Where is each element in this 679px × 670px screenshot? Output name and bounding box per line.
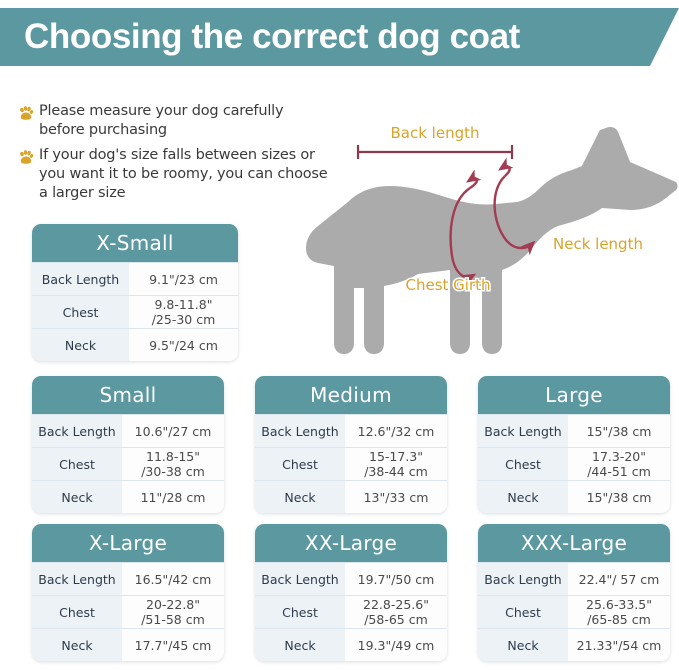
- row-value-line: /58-65 cm: [364, 612, 428, 627]
- page-title: Choosing the correct dog coat: [24, 8, 520, 66]
- row-value: 13"/33 cm: [345, 481, 447, 513]
- table-row: Neck21.33"/54 cm: [478, 628, 670, 661]
- note-text: If your dog's size falls between sizes o…: [39, 146, 330, 203]
- paw-print-icon: [18, 105, 34, 121]
- row-value-line: 22.8-25.6": [363, 597, 429, 612]
- row-value: 10.6"/27 cm: [122, 415, 224, 447]
- row-label: Back Length: [478, 563, 568, 595]
- size-table-medium: MediumBack Length12.6"/32 cmChest15-17.3…: [255, 376, 447, 513]
- row-value-line: /38-44 cm: [364, 464, 428, 479]
- row-value: 9.1"/23 cm: [129, 263, 238, 295]
- row-value-line: 12.6"/32 cm: [358, 424, 435, 439]
- row-value: 22.8-25.6"/58-65 cm: [345, 596, 447, 628]
- row-value-line: 19.7"/50 cm: [358, 572, 435, 587]
- table-row: Chest15-17.3"/38-44 cm: [255, 447, 447, 480]
- table-row: Neck9.5"/24 cm: [32, 328, 238, 361]
- size-table-xx-large: XX-LargeBack Length19.7"/50 cmChest22.8-…: [255, 524, 447, 661]
- row-value: 15"/38 cm: [568, 415, 670, 447]
- back-length-measure: [358, 145, 512, 159]
- row-label: Chest: [32, 596, 122, 628]
- row-label: Chest: [255, 448, 345, 480]
- size-table-x-small: X-SmallBack Length9.1"/23 cmChest9.8-11.…: [32, 224, 238, 361]
- row-label: Chest: [255, 596, 345, 628]
- note-text: Please measure your dog carefully before…: [39, 102, 330, 140]
- paw-print-icon: [18, 149, 34, 165]
- row-value: 19.7"/50 cm: [345, 563, 447, 595]
- table-row: Neck13"/33 cm: [255, 480, 447, 513]
- row-value-line: 9.8-11.8": [155, 297, 213, 312]
- row-value-line: 13"/33 cm: [364, 490, 429, 505]
- table-row: Chest9.8-11.8"/25-30 cm: [32, 295, 238, 328]
- table-row: Chest17.3-20"/44-51 cm: [478, 447, 670, 480]
- size-table-x-large: X-LargeBack Length16.5"/42 cmChest20-22.…: [32, 524, 224, 661]
- row-label: Neck: [255, 629, 345, 661]
- row-value-line: 15-17.3": [369, 449, 423, 464]
- row-value-line: 9.1"/23 cm: [149, 272, 218, 287]
- chest-girth-label: Chest Girth: [405, 276, 490, 294]
- row-label: Back Length: [32, 563, 122, 595]
- size-table-large: LargeBack Length15"/38 cmChest17.3-20"/4…: [478, 376, 670, 513]
- table-row: Chest11.8-15"/30-38 cm: [32, 447, 224, 480]
- row-value-line: 11.8-15": [146, 449, 200, 464]
- table-row: Back Length9.1"/23 cm: [32, 262, 238, 295]
- row-value: 15-17.3"/38-44 cm: [345, 448, 447, 480]
- row-value-line: 15"/38 cm: [587, 490, 652, 505]
- row-value-line: 15"/38 cm: [587, 424, 652, 439]
- row-label: Chest: [478, 596, 568, 628]
- row-value-line: /30-38 cm: [141, 464, 205, 479]
- row-value: 15"/38 cm: [568, 481, 670, 513]
- table-row: Chest25.6-33.5"/65-85 cm: [478, 595, 670, 628]
- row-value: 17.3-20"/44-51 cm: [568, 448, 670, 480]
- row-value: 12.6"/32 cm: [345, 415, 447, 447]
- row-value: 11"/28 cm: [122, 481, 224, 513]
- size-table-header: XXX-Large: [478, 524, 670, 562]
- row-value: 17.7"/45 cm: [122, 629, 224, 661]
- row-value: 19.3"/49 cm: [345, 629, 447, 661]
- row-label: Chest: [32, 296, 129, 328]
- size-table-header: Medium: [255, 376, 447, 414]
- row-value-line: 9.5"/24 cm: [149, 338, 218, 353]
- back-length-label: Back length: [391, 124, 480, 142]
- measurement-notes: Please measure your dog carefully before…: [18, 102, 330, 209]
- size-table-header: X-Large: [32, 524, 224, 562]
- table-row: Neck19.3"/49 cm: [255, 628, 447, 661]
- table-row: Back Length15"/38 cm: [478, 414, 670, 447]
- row-value: 20-22.8"/51-58 cm: [122, 596, 224, 628]
- row-value: 22.4"/ 57 cm: [568, 563, 670, 595]
- row-value-line: 10.6"/27 cm: [135, 424, 212, 439]
- row-value-line: 11"/28 cm: [141, 490, 206, 505]
- row-label: Neck: [32, 481, 122, 513]
- dog-measurement-diagram: Back length Chest Girth Neck length: [300, 118, 679, 363]
- row-value-line: /51-58 cm: [141, 612, 205, 627]
- size-table-small: SmallBack Length10.6"/27 cmChest11.8-15"…: [32, 376, 224, 513]
- row-value-line: 19.3"/49 cm: [358, 638, 435, 653]
- row-label: Back Length: [255, 415, 345, 447]
- row-label: Neck: [255, 481, 345, 513]
- note-item: If your dog's size falls between sizes o…: [18, 146, 330, 203]
- size-table-header: Large: [478, 376, 670, 414]
- row-value-line: 21.33"/54 cm: [577, 638, 662, 653]
- row-value: 16.5"/42 cm: [122, 563, 224, 595]
- table-row: Back Length12.6"/32 cm: [255, 414, 447, 447]
- row-value-line: 25.6-33.5": [586, 597, 652, 612]
- row-label: Back Length: [32, 415, 122, 447]
- row-label: Neck: [32, 629, 122, 661]
- table-row: Chest20-22.8"/51-58 cm: [32, 595, 224, 628]
- row-label: Neck: [32, 329, 129, 361]
- row-value-line: 16.5"/42 cm: [135, 572, 212, 587]
- row-value: 21.33"/54 cm: [568, 629, 670, 661]
- size-table-xxx-large: XXX-LargeBack Length22.4"/ 57 cmChest25.…: [478, 524, 670, 661]
- row-label: Back Length: [478, 415, 568, 447]
- row-value: 9.8-11.8"/25-30 cm: [129, 296, 238, 328]
- table-row: Chest22.8-25.6"/58-65 cm: [255, 595, 447, 628]
- size-table-header: XX-Large: [255, 524, 447, 562]
- note-item: Please measure your dog carefully before…: [18, 102, 330, 140]
- table-row: Neck15"/38 cm: [478, 480, 670, 513]
- row-label: Chest: [478, 448, 568, 480]
- row-value-line: 22.4"/ 57 cm: [579, 572, 660, 587]
- row-value: 25.6-33.5"/65-85 cm: [568, 596, 670, 628]
- table-row: Neck11"/28 cm: [32, 480, 224, 513]
- size-table-header: X-Small: [32, 224, 238, 262]
- table-row: Back Length16.5"/42 cm: [32, 562, 224, 595]
- row-value: 9.5"/24 cm: [129, 329, 238, 361]
- row-value: 11.8-15"/30-38 cm: [122, 448, 224, 480]
- row-value-line: /65-85 cm: [587, 612, 651, 627]
- row-label: Neck: [478, 629, 568, 661]
- header-banner: Choosing the correct dog coat: [0, 8, 679, 66]
- row-label: Back Length: [255, 563, 345, 595]
- row-label: Back Length: [32, 263, 129, 295]
- neck-length-label: Neck length: [553, 235, 643, 253]
- table-row: Neck17.7"/45 cm: [32, 628, 224, 661]
- row-value-line: 20-22.8": [146, 597, 200, 612]
- row-value-line: /44-51 cm: [587, 464, 651, 479]
- table-row: Back Length10.6"/27 cm: [32, 414, 224, 447]
- row-value-line: 17.3-20": [592, 449, 646, 464]
- table-row: Back Length22.4"/ 57 cm: [478, 562, 670, 595]
- row-label: Neck: [478, 481, 568, 513]
- row-value-line: /25-30 cm: [152, 312, 216, 327]
- row-label: Chest: [32, 448, 122, 480]
- size-table-header: Small: [32, 376, 224, 414]
- row-value-line: 17.7"/45 cm: [135, 638, 212, 653]
- table-row: Back Length19.7"/50 cm: [255, 562, 447, 595]
